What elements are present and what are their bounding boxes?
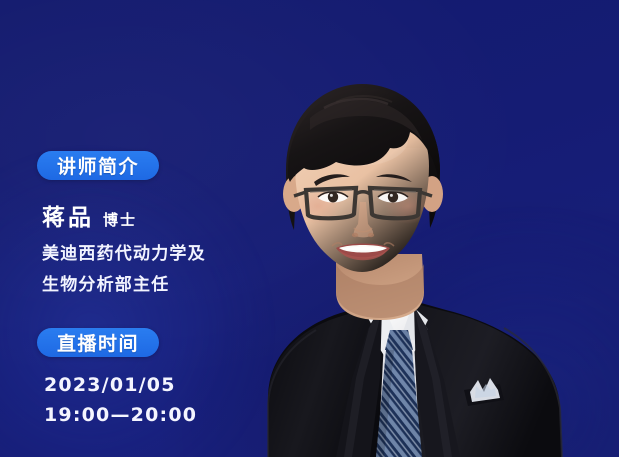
time-badge-label: 直播时间 — [57, 329, 139, 356]
broadcast-time-range: 19:00—20:00 — [44, 404, 197, 426]
speaker-role-line-2: 生物分析部主任 — [42, 270, 169, 295]
speaker-badge-label: 讲师简介 — [57, 152, 139, 179]
time-section-badge: 直播时间 — [37, 328, 159, 357]
speaker-name: 蒋品 — [42, 198, 94, 232]
speaker-degree: 博士 — [103, 209, 137, 230]
speaker-name-row: 蒋品 博士 — [42, 198, 137, 232]
webinar-speaker-poster: 讲师简介 蒋品 博士 美迪西药代动力学及 生物分析部主任 直播时间 2023/0… — [0, 0, 619, 457]
speaker-section-badge: 讲师简介 — [37, 151, 159, 180]
portrait-body — [268, 301, 562, 457]
portrait-face — [288, 88, 440, 278]
speaker-role-line-1: 美迪西药代动力学及 — [42, 239, 206, 264]
poster-text-column: 讲师简介 蒋品 博士 美迪西药代动力学及 生物分析部主任 直播时间 2023/0… — [0, 0, 300, 457]
broadcast-date: 2023/01/05 — [44, 374, 176, 396]
